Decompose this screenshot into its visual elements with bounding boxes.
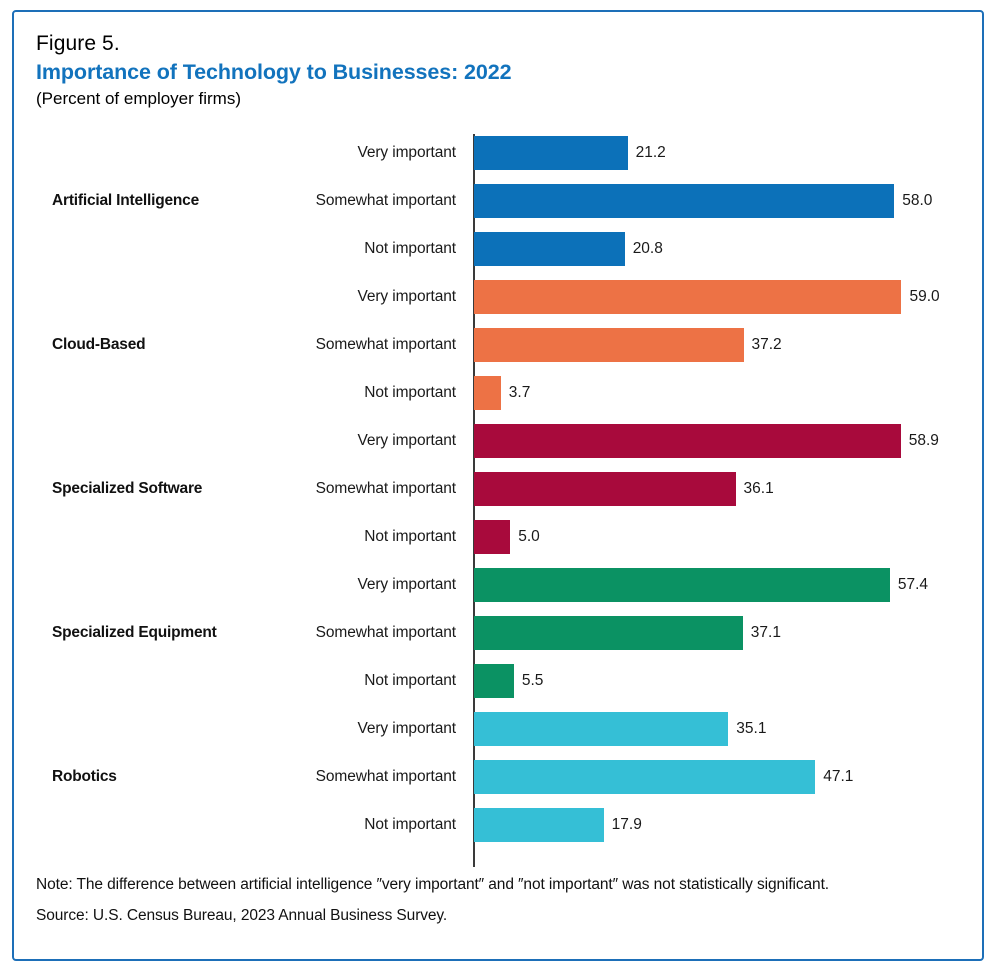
category-label: Somewhat important [36, 760, 456, 794]
bar [474, 136, 628, 170]
bar-row: Somewhat important37.1 [36, 616, 964, 650]
bar [474, 328, 744, 362]
category-label: Not important [36, 376, 456, 410]
figure-footer: Note: The difference between artificial … [36, 874, 936, 926]
category-label: Very important [36, 136, 456, 170]
bar [474, 712, 728, 746]
category-label: Somewhat important [36, 616, 456, 650]
figure-subtitle: (Percent of employer firms) [36, 87, 512, 111]
category-label: Somewhat important [36, 328, 456, 362]
figure-note: Note: The difference between artificial … [36, 874, 866, 895]
bar [474, 616, 743, 650]
category-label: Somewhat important [36, 472, 456, 506]
bar-row: Somewhat important58.0 [36, 184, 964, 218]
bar-row: Very important35.1 [36, 712, 964, 746]
figure-number: Figure 5. [36, 30, 512, 57]
category-label: Very important [36, 280, 456, 314]
category-label: Very important [36, 568, 456, 602]
bar-value-label: 5.5 [522, 664, 544, 698]
bar-value-label: 5.0 [518, 520, 540, 554]
bar [474, 376, 501, 410]
category-label: Not important [36, 232, 456, 266]
bar [474, 424, 901, 458]
bar [474, 808, 604, 842]
bar-row: Somewhat important36.1 [36, 472, 964, 506]
category-label: Not important [36, 664, 456, 698]
bar-value-label: 37.2 [752, 328, 782, 362]
bar-value-label: 58.0 [902, 184, 932, 218]
bar-row: Very important58.9 [36, 424, 964, 458]
category-label: Not important [36, 520, 456, 554]
bar-value-label: 58.9 [909, 424, 939, 458]
figure-source: Source: U.S. Census Bureau, 2023 Annual … [36, 905, 936, 926]
bar-value-label: 21.2 [636, 136, 666, 170]
bar [474, 520, 510, 554]
bar-value-label: 47.1 [823, 760, 853, 794]
bar [474, 232, 625, 266]
category-label: Not important [36, 808, 456, 842]
figure-title: Importance of Technology to Businesses: … [36, 58, 512, 86]
bar-row: Not important17.9 [36, 808, 964, 842]
bar-row: Very important59.0 [36, 280, 964, 314]
bar [474, 184, 894, 218]
bar [474, 664, 514, 698]
category-label: Very important [36, 712, 456, 746]
figure-header: Figure 5. Importance of Technology to Bu… [36, 30, 512, 111]
bar-row: Not important5.5 [36, 664, 964, 698]
bar-value-label: 17.9 [612, 808, 642, 842]
bar-value-label: 59.0 [909, 280, 939, 314]
bar [474, 472, 736, 506]
bar-value-label: 57.4 [898, 568, 928, 602]
bar-row: Very important21.2 [36, 136, 964, 170]
bar-row: Very important57.4 [36, 568, 964, 602]
bar-row: Not important20.8 [36, 232, 964, 266]
bar-value-label: 37.1 [751, 616, 781, 650]
bar [474, 280, 901, 314]
bar-row: Not important5.0 [36, 520, 964, 554]
bar-row: Not important3.7 [36, 376, 964, 410]
figure-frame: Figure 5. Importance of Technology to Bu… [12, 10, 984, 961]
category-label: Very important [36, 424, 456, 458]
bar-row: Somewhat important47.1 [36, 760, 964, 794]
chart-plot-area: Artificial IntelligenceVery important21.… [36, 122, 964, 862]
category-label: Somewhat important [36, 184, 456, 218]
bar [474, 760, 815, 794]
bar-value-label: 20.8 [633, 232, 663, 266]
bar-value-label: 36.1 [744, 472, 774, 506]
bar-value-label: 3.7 [509, 376, 531, 410]
bar-row: Somewhat important37.2 [36, 328, 964, 362]
bar [474, 568, 890, 602]
bar-value-label: 35.1 [736, 712, 766, 746]
